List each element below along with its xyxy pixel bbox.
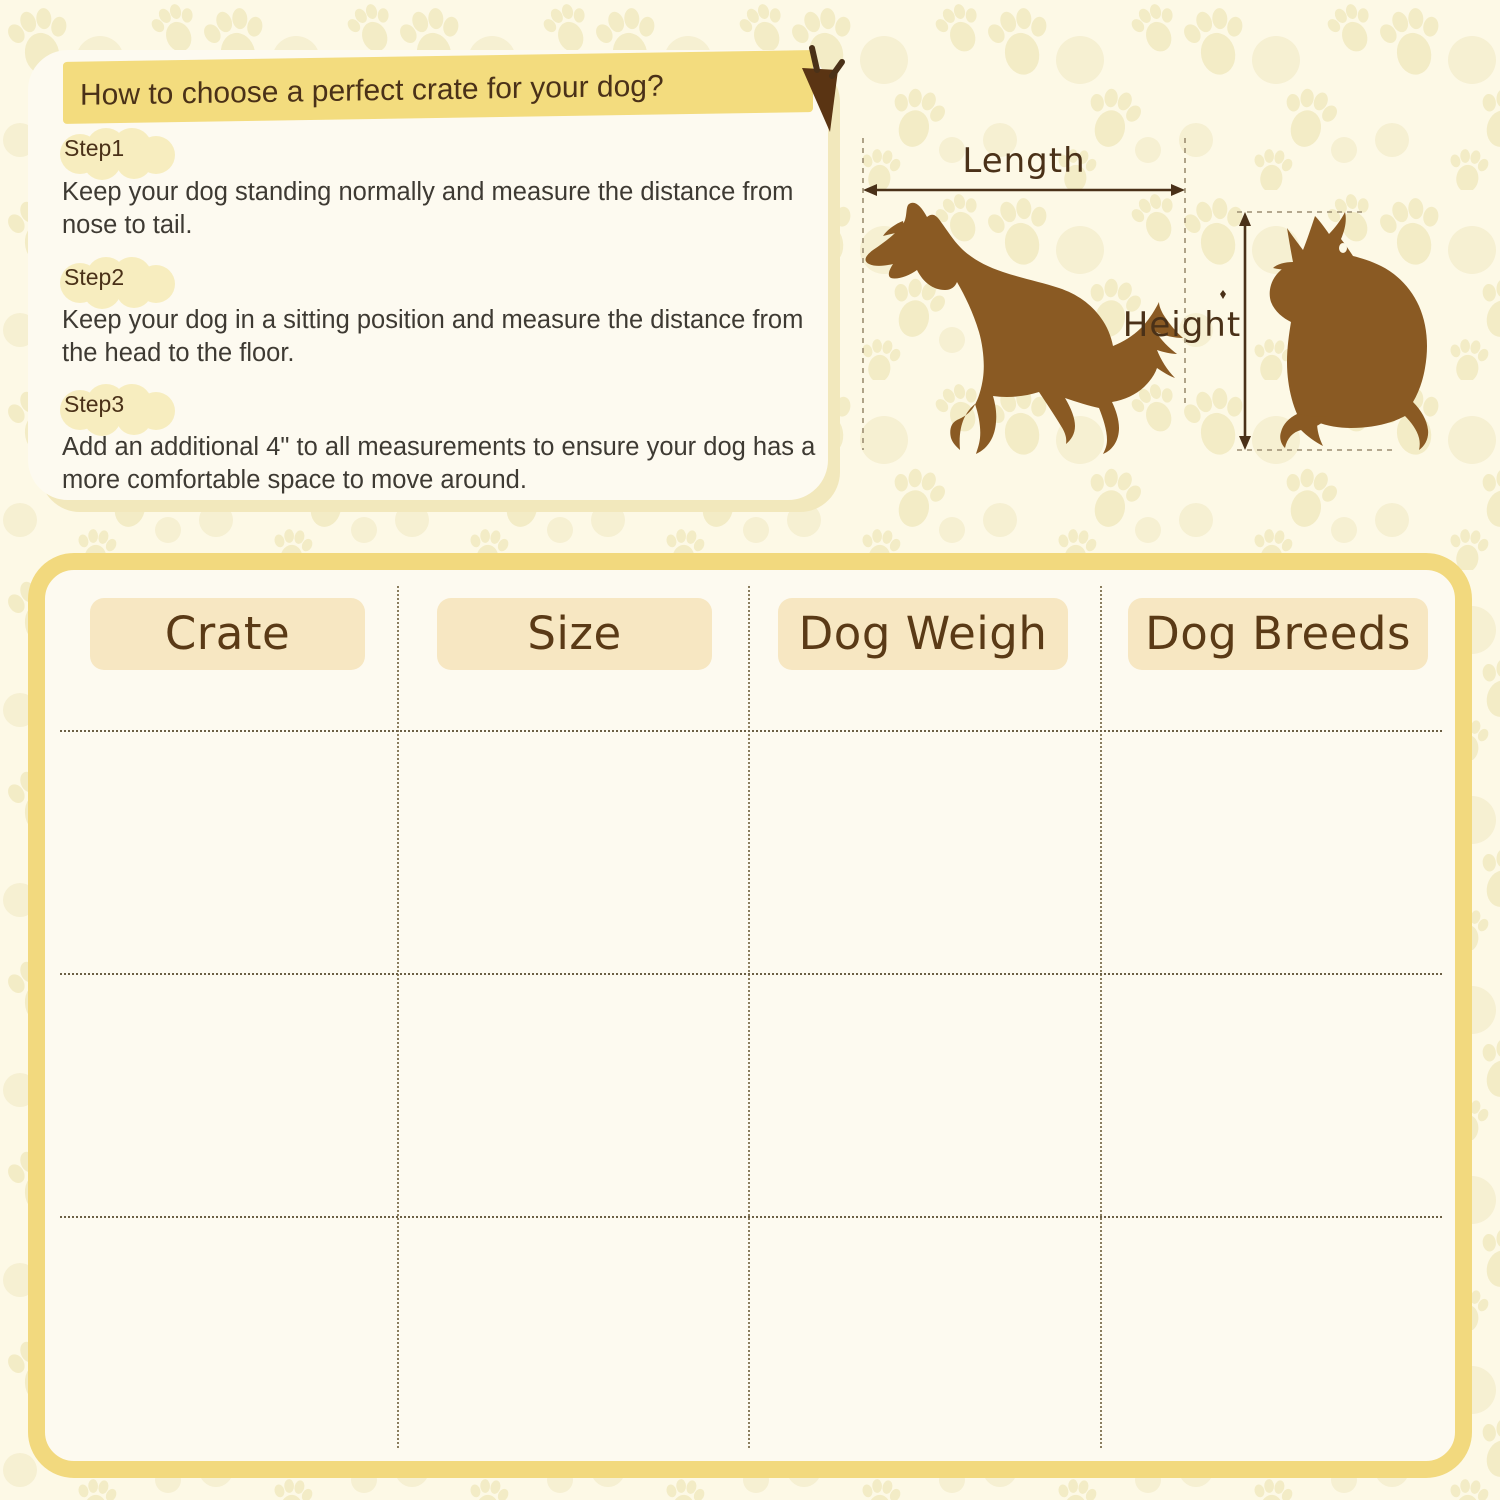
header-size-label: Size [527,607,621,660]
step2-label: Step2 [64,264,124,291]
row-divider-1 [60,973,1442,975]
column-divider-2 [748,586,750,1448]
step3-label: Step3 [64,391,124,418]
sitting-dog-silhouette [1270,212,1428,450]
height-label: Height [1123,305,1241,345]
header-size: Size [437,602,712,666]
header-breeds: Dog Breeds [1128,602,1428,666]
length-label: Length [962,141,1085,181]
step1-label: Step1 [64,135,124,162]
column-divider-1 [397,586,399,1448]
page-title: How to choose a perfect crate for your d… [80,56,820,124]
row-divider-header [60,730,1442,732]
step1-text: Keep your dog standing normally and meas… [62,176,802,241]
header-crate: Crate [90,602,365,666]
header-weight: Dog Weigh [778,602,1068,666]
step3-text: Add an additional 4" to all measurements… [62,431,824,496]
pen-nib-icon [786,40,866,150]
dog-measurement-diagram: Length Height [845,120,1495,490]
step2-text: Keep your dog in a sitting position and … [62,304,822,369]
sizing-table: Crate Size Dog Weigh Dog Breeds [60,578,1442,1454]
row-divider-2 [60,1216,1442,1218]
column-divider-3 [1100,586,1102,1448]
